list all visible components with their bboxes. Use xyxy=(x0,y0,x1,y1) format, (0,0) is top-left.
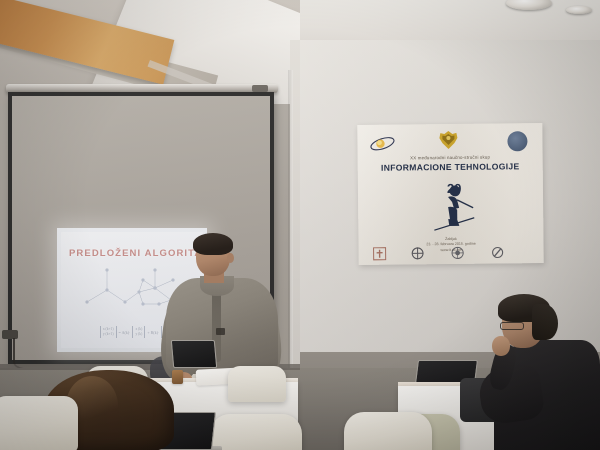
chair-back-center[interactable] xyxy=(228,366,286,402)
seated-man-hand xyxy=(492,336,510,356)
banner-title: INFORMACIONE TEHNOLOGIJE xyxy=(364,161,537,173)
conference-banner: XX međunarodni naučno-stručni skup INFOR… xyxy=(357,123,543,265)
screen-roller-knob xyxy=(252,85,268,92)
seated-man-right xyxy=(470,292,600,450)
sponsor-logo-3-icon xyxy=(451,246,465,260)
chair-foreground-left[interactable] xyxy=(0,396,78,450)
skier-emblem-icon: 20 xyxy=(424,178,481,237)
eyeglasses-icon xyxy=(500,322,524,330)
sponsor-logo-1-icon xyxy=(373,247,387,261)
laptop-center-screen[interactable] xyxy=(171,340,217,368)
formula-operator: = A(k)· xyxy=(118,330,132,335)
sponsor-logo-2-icon xyxy=(411,246,425,260)
orbit-planet-icon xyxy=(369,135,395,153)
seated-man-hair-back xyxy=(532,304,558,340)
presenter-hair xyxy=(193,233,233,255)
circular-blue-seal-icon xyxy=(507,131,527,151)
montenegro-coat-of-arms-icon xyxy=(436,130,460,152)
formula-plus-operator: + B(k)· xyxy=(146,330,160,335)
presenter-ear xyxy=(227,253,234,263)
chair-front-right[interactable] xyxy=(344,412,432,450)
ceiling-spotlight-icon xyxy=(566,6,592,14)
wall-corner-edge xyxy=(288,70,293,370)
photo-scene: PREDLOŽENI ALGORITAM xyxy=(0,0,600,450)
presenter-chest-badge xyxy=(216,328,225,335)
sponsor-logo-4-icon xyxy=(491,245,505,259)
chair-front-center[interactable] xyxy=(210,414,302,450)
